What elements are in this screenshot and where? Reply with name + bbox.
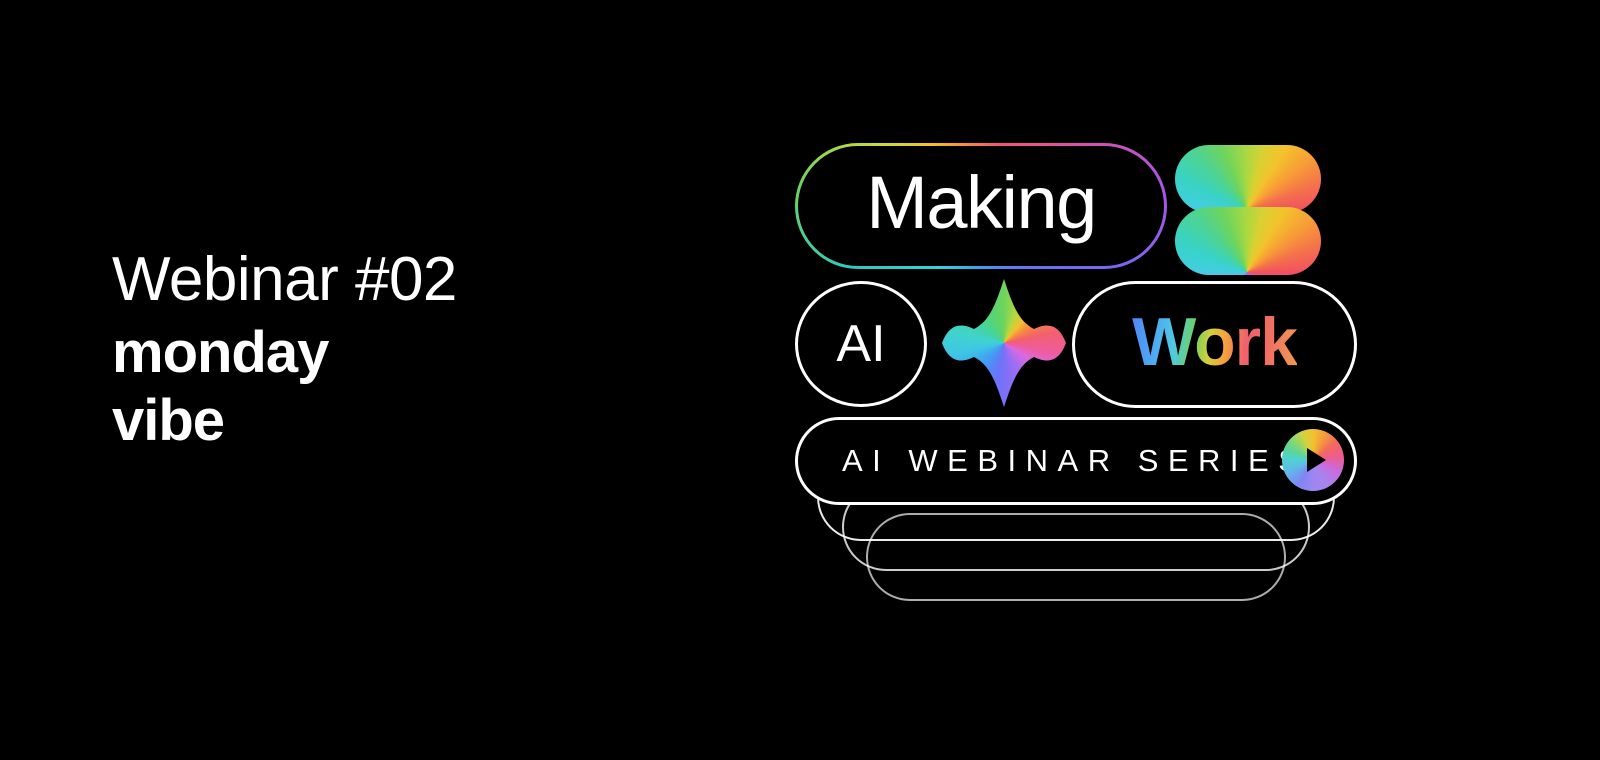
work-pill: Work	[1072, 281, 1357, 408]
ai-label: AI	[836, 318, 885, 370]
left-text-block: Webinar #02 monday vibe	[112, 243, 672, 455]
work-label: Work	[1132, 308, 1297, 381]
series-label: AI WEBINAR SERIES	[842, 420, 1308, 502]
blob-half-top	[1175, 145, 1321, 213]
making-pill-inner: Making	[798, 146, 1164, 266]
making-pill: Making	[795, 143, 1167, 269]
play-badge[interactable]	[1282, 429, 1344, 491]
blob-half-bottom	[1175, 207, 1321, 275]
headline-line-2: vibe	[112, 387, 672, 455]
ai-circle: AI	[795, 281, 927, 407]
headline-line-1: monday	[112, 319, 672, 387]
series-bar: AI WEBINAR SERIES	[795, 417, 1357, 505]
webinar-kicker: Webinar #02	[112, 243, 672, 317]
four-point-star-icon	[938, 277, 1070, 409]
stacked-rounded-blob-icon	[1175, 145, 1321, 275]
poster-canvas: Webinar #02 monday vibe Making AI	[0, 0, 1600, 760]
page-title: monday vibe	[112, 319, 672, 455]
logo-lockup: Making AI	[790, 135, 1390, 615]
making-label: Making	[866, 166, 1096, 246]
play-triangle-icon	[1307, 448, 1326, 472]
